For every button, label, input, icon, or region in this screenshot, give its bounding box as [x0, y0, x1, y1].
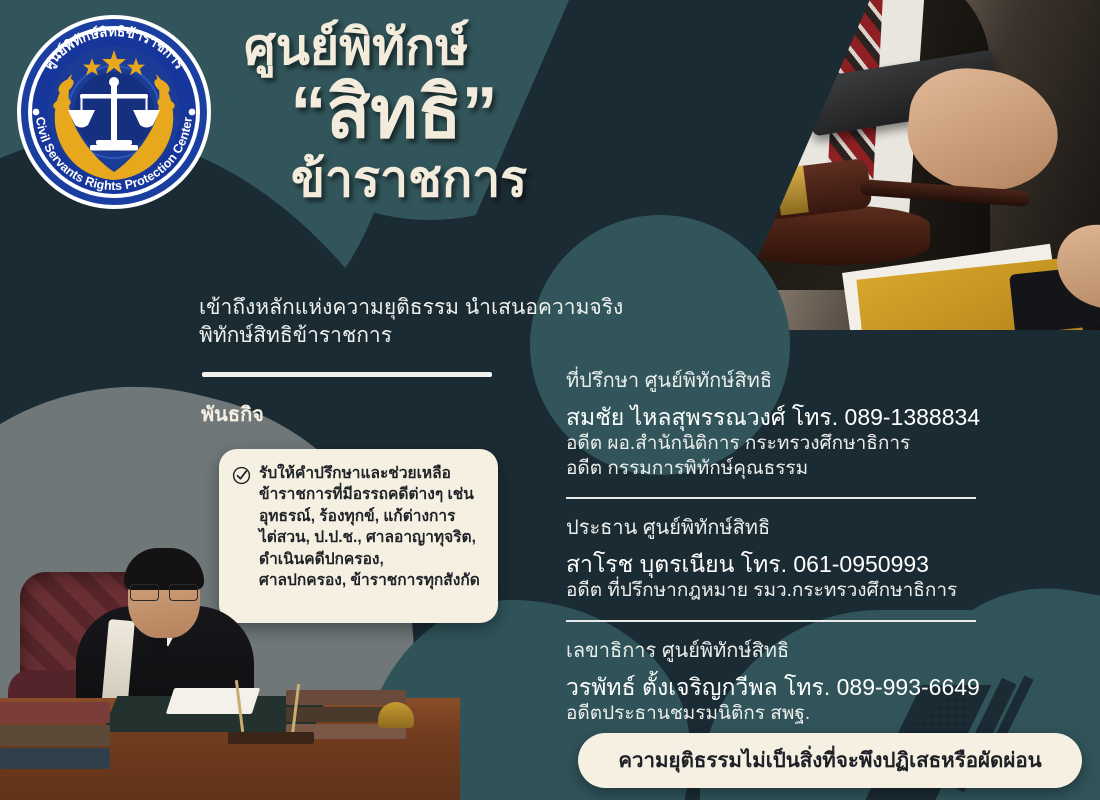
contact-name-phone[interactable]: สมชัย ไหลสุพรรณวงศ์ โทร. 089-1388834 [566, 402, 1036, 432]
contact-divider-2 [566, 620, 976, 622]
poster-subtitle: เข้าถึงหลักแห่งความยุติธรรม นำเสนอความจร… [199, 294, 629, 351]
poster-title: ศูนย์พิทักษ์ “สิทธิ” ข้าราชการ [244, 22, 644, 205]
mission-heading: พันธกิจ [201, 398, 264, 430]
contact-president: ประธาน ศูนย์พิทักษ์สิทธิ สาโรช บุตรเนียน… [566, 513, 1036, 604]
contact-divider-1 [566, 497, 976, 499]
book [0, 748, 110, 769]
contact-subtitle-1: อดีต ที่ปรึกษากฎหมาย รมว.กระทรวงศึกษาธิก… [566, 579, 1036, 603]
mission-line-1: รับให้คำปรึกษาและช่วยเหลือ [259, 463, 480, 484]
subtitle-line-1: เข้าถึงหลักแห่งความยุติธรรม นำเสนอความจร… [199, 294, 629, 322]
section-divider-rule [202, 372, 492, 377]
subtitle-line-2: พิทักษ์สิทธิข้าราชการ [199, 322, 629, 350]
book [0, 702, 110, 723]
judge-law-books-left [0, 702, 110, 768]
contact-name-phone[interactable]: วรพัทธ์ ตั้งเจริญกวีพล โทร. 089-993-6649 [566, 672, 1036, 702]
title-line-2-highlight: “สิทธิ” [244, 77, 544, 150]
book [0, 725, 110, 746]
contact-role: ประธาน ศูนย์พิทักษ์สิทธิ [566, 513, 1036, 543]
judge-eyeglasses [130, 584, 198, 599]
contact-list: ที่ปรึกษา ศูนย์พิทักษ์สิทธิ สมชัย ไหลสุพ… [566, 366, 1036, 726]
pen [291, 684, 300, 736]
contact-secretary-general: เลขาธิการ ศูนย์พิทักษ์สิทธิ วรพัทธ์ ตั้ง… [566, 636, 1036, 727]
title-line-1: ศูนย์พิทักษ์ [244, 22, 644, 73]
contact-advisor: ที่ปรึกษา ศูนย์พิทักษ์สิทธิ สมชัย ไหลสุพ… [566, 366, 1036, 481]
poster-canvas: ศูนย์พิทักษ์สิทธิข้าราชการ Civil Servant… [0, 0, 1100, 800]
pen [235, 680, 244, 732]
judge-pen-stand [228, 680, 318, 740]
contact-role: ที่ปรึกษา ศูนย์พิทักษ์สิทธิ [566, 366, 1036, 396]
contact-subtitle-1: อดีตประธานชมรมนิติกร สพฐ. [566, 702, 1036, 726]
contact-name-phone[interactable]: สาโรช บุตรเนียน โทร. 061-0950993 [566, 549, 1036, 579]
contact-subtitle-2: อดีต กรรมการพิทักษ์คุณธรรม [566, 457, 1036, 481]
mission-line-2: ข้าราชการที่มีอรรถคดีต่างๆ เช่น [259, 484, 480, 505]
contact-subtitle-1: อดีต ผอ.สำนักนิติการ กระทรวงศึกษาธิการ [566, 432, 1036, 456]
bottom-slogan-text: ความยุติธรรมไม่เป็นสิ่งที่จะพึงปฏิเสธหรื… [618, 744, 1041, 777]
title-line-3: ข้าราชการ [244, 154, 574, 205]
organization-logo: ศูนย์พิทักษ์สิทธิข้าราชการ Civil Servant… [14, 12, 214, 212]
pen-stand-base [228, 732, 314, 744]
judge-photo [0, 520, 460, 800]
bottom-slogan-banner: ความยุติธรรมไม่เป็นสิ่งที่จะพึงปฏิเสธหรื… [578, 733, 1082, 788]
contact-role: เลขาธิการ ศูนย์พิทักษ์สิทธิ [566, 636, 1036, 666]
